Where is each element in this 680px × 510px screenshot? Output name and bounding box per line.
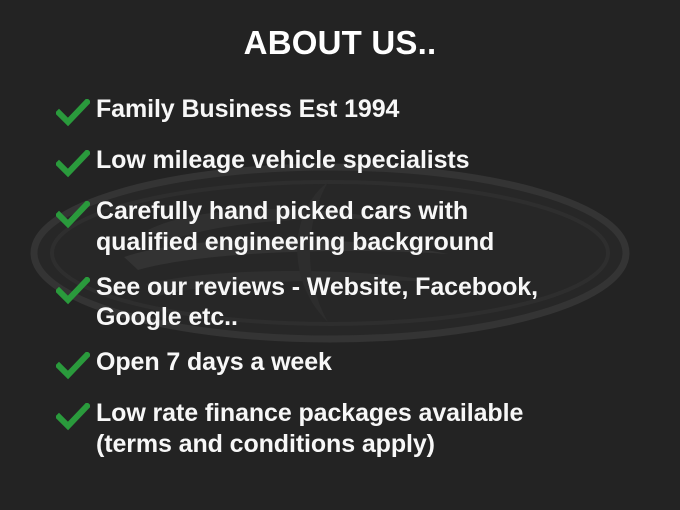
check-icon [56,150,96,182]
about-us-slide: ABOUT US.. Family Business Est 1994 Low … [0,0,680,510]
list-item-label: See our reviews - Website, Facebook, Goo… [96,272,656,334]
list-item-label: Carefully hand picked cars with qualifie… [96,196,656,258]
list-item: Family Business Est 1994 [56,94,656,131]
list-item: See our reviews - Website, Facebook, Goo… [56,272,656,334]
page-title: ABOUT US.. [0,24,680,62]
list-item: Carefully hand picked cars with qualifie… [56,196,656,258]
about-us-bullet-list: Family Business Est 1994 Low mileage veh… [56,94,656,460]
list-item-label: Low mileage vehicle specialists [96,145,656,176]
check-icon [56,352,96,384]
list-item: Low rate finance packages available (ter… [56,398,656,460]
list-item: Low mileage vehicle specialists [56,145,656,182]
check-icon [56,201,96,233]
list-item-label: Open 7 days a week [96,347,656,378]
list-item-label: Family Business Est 1994 [96,94,656,125]
list-item-label: Low rate finance packages available (ter… [96,398,656,460]
check-icon [56,277,96,309]
check-icon [56,403,96,435]
check-icon [56,99,96,131]
list-item: Open 7 days a week [56,347,656,384]
